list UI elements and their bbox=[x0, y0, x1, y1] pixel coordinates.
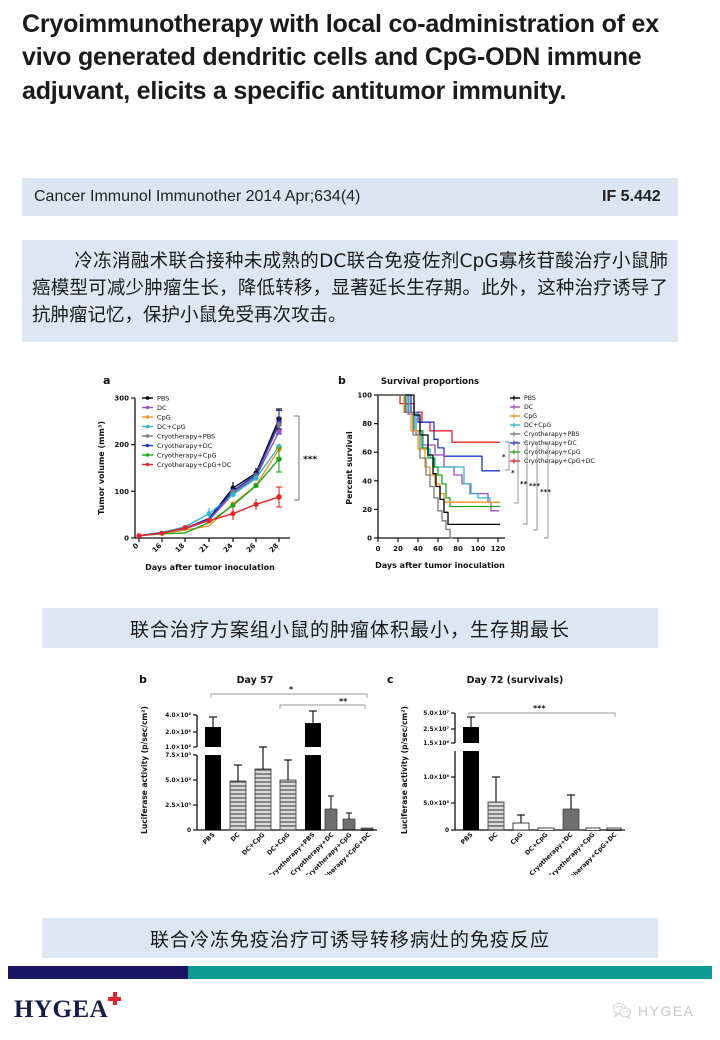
citation-band: Cancer Immunol Immunother 2014 Apr;634(4… bbox=[22, 178, 678, 216]
medical-cross-icon bbox=[108, 992, 121, 1005]
svg-text:100: 100 bbox=[471, 545, 486, 553]
svg-text:Days after tumor inoculation: Days after tumor inoculation bbox=[375, 561, 505, 570]
abstract-chinese: 冷冻消融术联合接种未成熟的DC联合免疫佐剂CpG寡核苷酸治疗小鼠肺癌模型可减少肿… bbox=[22, 240, 678, 342]
svg-text:0: 0 bbox=[187, 828, 191, 834]
svg-text:80: 80 bbox=[362, 420, 372, 428]
svg-text:1.5×10⁶: 1.5×10⁶ bbox=[423, 740, 449, 747]
svg-text:Day 72 (survivals): Day 72 (survivals) bbox=[467, 675, 564, 686]
svg-text:80: 80 bbox=[453, 545, 463, 553]
svg-text:Cryotherapy+CpG: Cryotherapy+CpG bbox=[157, 451, 216, 459]
svg-text:200: 200 bbox=[114, 441, 129, 449]
svg-text:Tumor volume (mm³): Tumor volume (mm³) bbox=[97, 421, 106, 515]
figure1-caption-text: 联合治疗方案组小鼠的肿瘤体积最小，生存期最长 bbox=[130, 615, 570, 642]
svg-text:20: 20 bbox=[393, 545, 403, 553]
svg-text:b: b bbox=[338, 374, 346, 387]
svg-text:Cryotherapy+CpG+DC: Cryotherapy+CpG+DC bbox=[157, 461, 232, 469]
wechat-account-name: HYGEA bbox=[638, 1003, 695, 1019]
svg-text:60: 60 bbox=[362, 449, 372, 457]
svg-text:***: *** bbox=[540, 488, 551, 496]
svg-text:Cryotherapy+CpG: Cryotherapy+CpG bbox=[524, 449, 581, 456]
svg-text:***: *** bbox=[303, 455, 317, 465]
citation-journal: Cancer Immunol Immunother 2014 Apr;634(4… bbox=[34, 188, 360, 206]
svg-text:PBS: PBS bbox=[157, 394, 169, 402]
svg-text:***: *** bbox=[533, 704, 546, 713]
svg-text:*: * bbox=[511, 469, 515, 477]
svg-text:DC: DC bbox=[524, 404, 533, 411]
svg-text:Cryotherapy+PBS: Cryotherapy+PBS bbox=[524, 431, 579, 438]
svg-text:***: *** bbox=[529, 482, 540, 490]
svg-text:120: 120 bbox=[491, 545, 506, 553]
svg-text:Cryotherapy+CpG+DC: Cryotherapy+CpG+DC bbox=[524, 458, 595, 465]
svg-text:Survival proportions: Survival proportions bbox=[381, 377, 479, 387]
figure-row-2: b Day 57 4.0×10⁴ 2.0×10⁴ 1.0×10⁴ 7.5×10³… bbox=[125, 665, 635, 875]
footer-teal-bar bbox=[188, 966, 712, 979]
svg-text:7.5×10³: 7.5×10³ bbox=[165, 752, 191, 759]
svg-text:60: 60 bbox=[433, 545, 443, 553]
svg-text:100: 100 bbox=[357, 392, 372, 400]
svg-text:5.0×10⁷: 5.0×10⁷ bbox=[423, 710, 449, 717]
svg-text:2.0×10⁴: 2.0×10⁴ bbox=[165, 729, 191, 736]
svg-text:**: ** bbox=[520, 480, 528, 488]
svg-text:4.0×10⁴: 4.0×10⁴ bbox=[165, 712, 191, 719]
svg-text:a: a bbox=[103, 374, 110, 387]
svg-text:Cryotherapy+DC: Cryotherapy+DC bbox=[157, 442, 213, 450]
svg-text:5.0×10⁵: 5.0×10⁵ bbox=[423, 800, 449, 807]
svg-text:b: b bbox=[139, 673, 147, 686]
figure2-caption-text: 联合冷冻免疫治疗可诱导转移病灶的免疫反应 bbox=[150, 925, 550, 952]
slide-root: Cryoimmunotherapy with local co-administ… bbox=[0, 0, 720, 1040]
svg-text:CpG: CpG bbox=[157, 413, 171, 421]
hygea-logo: HYGEA bbox=[14, 996, 108, 1024]
svg-text:PBS: PBS bbox=[524, 395, 536, 402]
svg-text:Luciferase activity (p/sec/cm²: Luciferase activity (p/sec/cm²) bbox=[400, 706, 409, 834]
svg-text:Luciferase activity (p/sec/cm²: Luciferase activity (p/sec/cm²) bbox=[140, 706, 149, 834]
svg-text:Cryotherapy+PBS: Cryotherapy+PBS bbox=[157, 432, 215, 440]
svg-text:0: 0 bbox=[376, 545, 381, 553]
svg-text:c: c bbox=[387, 673, 394, 686]
citation-impact-factor: IF 5.442 bbox=[602, 188, 661, 206]
svg-text:2.5×10⁷: 2.5×10⁷ bbox=[423, 726, 449, 733]
svg-text:1.0×10⁶: 1.0×10⁶ bbox=[423, 774, 449, 781]
svg-text:40: 40 bbox=[362, 477, 372, 485]
svg-text:0: 0 bbox=[367, 535, 372, 543]
svg-text:40: 40 bbox=[413, 545, 423, 553]
svg-text:Percent survival: Percent survival bbox=[345, 431, 354, 505]
svg-text:*: * bbox=[502, 453, 506, 461]
svg-text:DC+CpG: DC+CpG bbox=[157, 423, 186, 431]
svg-text:Cryotherapy+DC: Cryotherapy+DC bbox=[524, 440, 577, 447]
svg-text:300: 300 bbox=[114, 395, 129, 403]
svg-text:Day 57: Day 57 bbox=[237, 675, 274, 686]
wechat-account: HYGEA bbox=[612, 1002, 695, 1019]
wechat-icon bbox=[612, 1002, 632, 1019]
svg-text:Days after tumor inoculation: Days after tumor inoculation bbox=[145, 563, 275, 572]
svg-text:0: 0 bbox=[124, 535, 129, 543]
svg-text:DC+CpG: DC+CpG bbox=[524, 422, 552, 429]
svg-text:DC: DC bbox=[157, 404, 167, 412]
figure1-caption: 联合治疗方案组小鼠的肿瘤体积最小，生存期最长 bbox=[42, 608, 658, 648]
svg-text:5.0×10³: 5.0×10³ bbox=[165, 777, 191, 784]
footer-navy-bar bbox=[8, 966, 188, 979]
svg-text:**: ** bbox=[339, 697, 348, 706]
figure-row-1: a 0 100 200 300 Tumor volume (mm³) bbox=[90, 368, 630, 600]
abstract-text: 冷冻消融术联合接种未成熟的DC联合免疫佐剂CpG寡核苷酸治疗小鼠肺癌模型可减少肿… bbox=[32, 251, 668, 326]
svg-text:20: 20 bbox=[362, 506, 372, 514]
figure2-caption: 联合冷冻免疫治疗可诱导转移病灶的免疫反应 bbox=[42, 918, 658, 958]
svg-text:100: 100 bbox=[114, 488, 129, 496]
svg-text:2.5×10³: 2.5×10³ bbox=[165, 802, 191, 809]
svg-text:CpG: CpG bbox=[524, 413, 537, 420]
page-title: Cryoimmunotherapy with local co-administ… bbox=[22, 8, 700, 108]
svg-text:1.0×10⁴: 1.0×10⁴ bbox=[165, 744, 191, 751]
svg-text:0: 0 bbox=[445, 828, 449, 834]
